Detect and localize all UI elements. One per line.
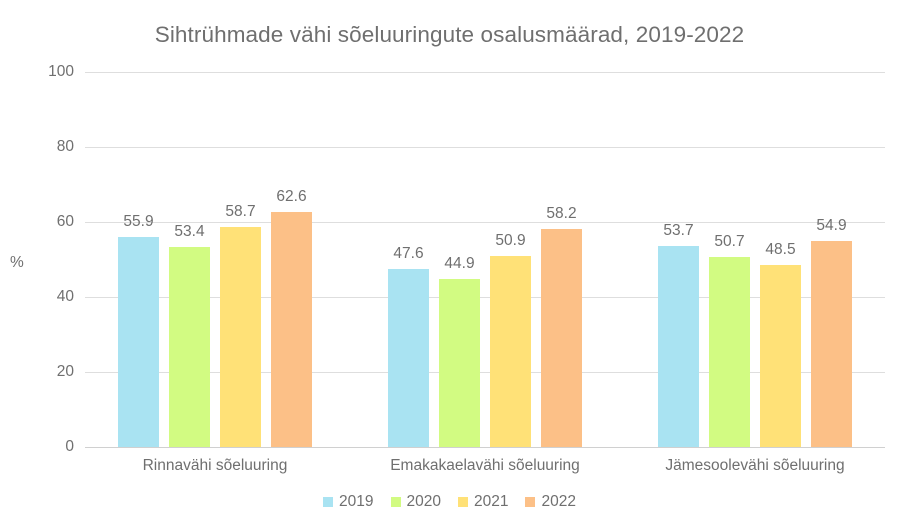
bar-value-label: 50.9	[482, 232, 539, 250]
legend-item[interactable]: 2020	[391, 494, 441, 510]
y-tick-label: 100	[26, 63, 74, 81]
bar[interactable]	[118, 237, 159, 447]
bar-value-label: 54.9	[803, 217, 860, 235]
y-tick-label: 0	[26, 438, 74, 456]
bar[interactable]	[490, 256, 531, 447]
bar[interactable]	[220, 227, 261, 447]
bar[interactable]	[541, 229, 582, 447]
bar[interactable]	[169, 247, 210, 447]
bar-value-label: 58.7	[212, 203, 269, 221]
legend-label: 2019	[339, 494, 373, 510]
legend-swatch-icon	[323, 497, 333, 507]
legend-swatch-icon	[458, 497, 468, 507]
bar[interactable]	[658, 246, 699, 447]
bar-value-label: 53.7	[650, 222, 707, 240]
x-axis-category-label: Jämesoolevähi sõeluuring	[598, 457, 899, 475]
bar-value-label: 48.5	[752, 241, 809, 259]
bar-value-label: 62.6	[263, 188, 320, 206]
bar[interactable]	[709, 257, 750, 447]
bar-value-label: 55.9	[110, 213, 167, 231]
legend-swatch-icon	[391, 497, 401, 507]
gridline-80	[85, 147, 885, 148]
x-axis-line	[85, 447, 885, 448]
y-tick-label: 80	[26, 138, 74, 156]
plot-area: 55.953.458.762.647.644.950.958.253.750.7…	[85, 72, 885, 447]
y-tick-label: 60	[26, 213, 74, 231]
y-axis-title: %	[10, 254, 24, 272]
bar[interactable]	[811, 241, 852, 447]
bar[interactable]	[760, 265, 801, 447]
x-axis-category-label: Emakakaelavähi sõeluuring	[328, 457, 642, 475]
bar-value-label: 53.4	[161, 223, 218, 241]
y-tick-label: 40	[26, 288, 74, 306]
bar[interactable]	[271, 212, 312, 447]
bar[interactable]	[388, 269, 429, 448]
bar-value-label: 44.9	[431, 255, 488, 273]
x-axis-category-label: Rinnavähi sõeluuring	[58, 457, 372, 475]
bar-value-label: 50.7	[701, 233, 758, 251]
chart-title: Sihtrühmade vähi sõeluuringute osalusmää…	[0, 22, 899, 48]
legend-item[interactable]: 2022	[525, 494, 575, 510]
legend-swatch-icon	[525, 497, 535, 507]
legend-label: 2020	[407, 494, 441, 510]
legend-label: 2021	[474, 494, 508, 510]
bar[interactable]	[439, 279, 480, 447]
chart-legend: 2019202020212022	[0, 494, 899, 510]
legend-item[interactable]: 2021	[458, 494, 508, 510]
bar-value-label: 58.2	[533, 205, 590, 223]
y-tick-label: 20	[26, 363, 74, 381]
bar-value-label: 47.6	[380, 245, 437, 263]
legend-label: 2022	[541, 494, 575, 510]
bar-chart: Sihtrühmade vähi sõeluuringute osalusmää…	[0, 0, 899, 526]
legend-item[interactable]: 2019	[323, 494, 373, 510]
gridline-100	[85, 72, 885, 73]
